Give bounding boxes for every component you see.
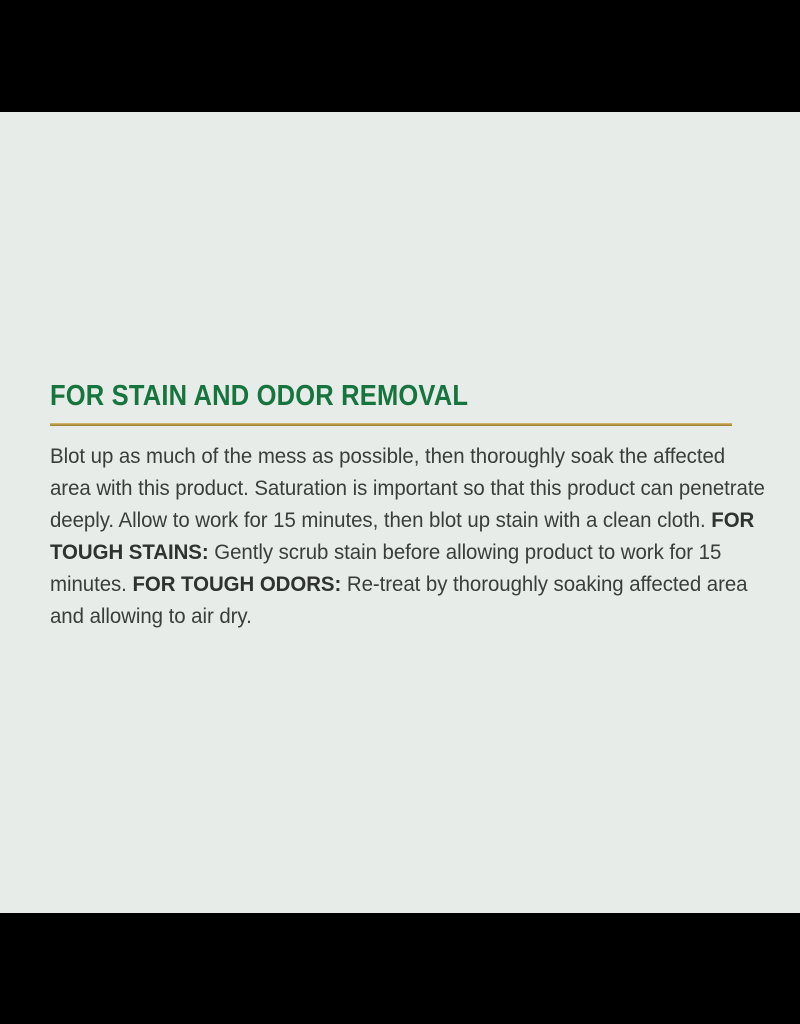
instructions-text-part-1: Blot up as much of the mess as possible,… — [50, 444, 765, 532]
label-panel: FOR STAIN AND ODOR REMOVAL Blot up as mu… — [0, 112, 800, 913]
letterbox-bar-bottom — [0, 913, 800, 1024]
instructions-paragraph: Blot up as much of the mess as possible,… — [50, 426, 766, 632]
stain-odor-removal-section: FOR STAIN AND ODOR REMOVAL Blot up as mu… — [50, 382, 766, 632]
product-label-image: FOR STAIN AND ODOR REMOVAL Blot up as mu… — [0, 0, 800, 1024]
letterbox-bar-top — [0, 0, 800, 112]
section-heading: FOR STAIN AND ODOR REMOVAL — [50, 382, 680, 411]
tough-odors-label: FOR TOUGH ODORS: — [132, 572, 341, 596]
